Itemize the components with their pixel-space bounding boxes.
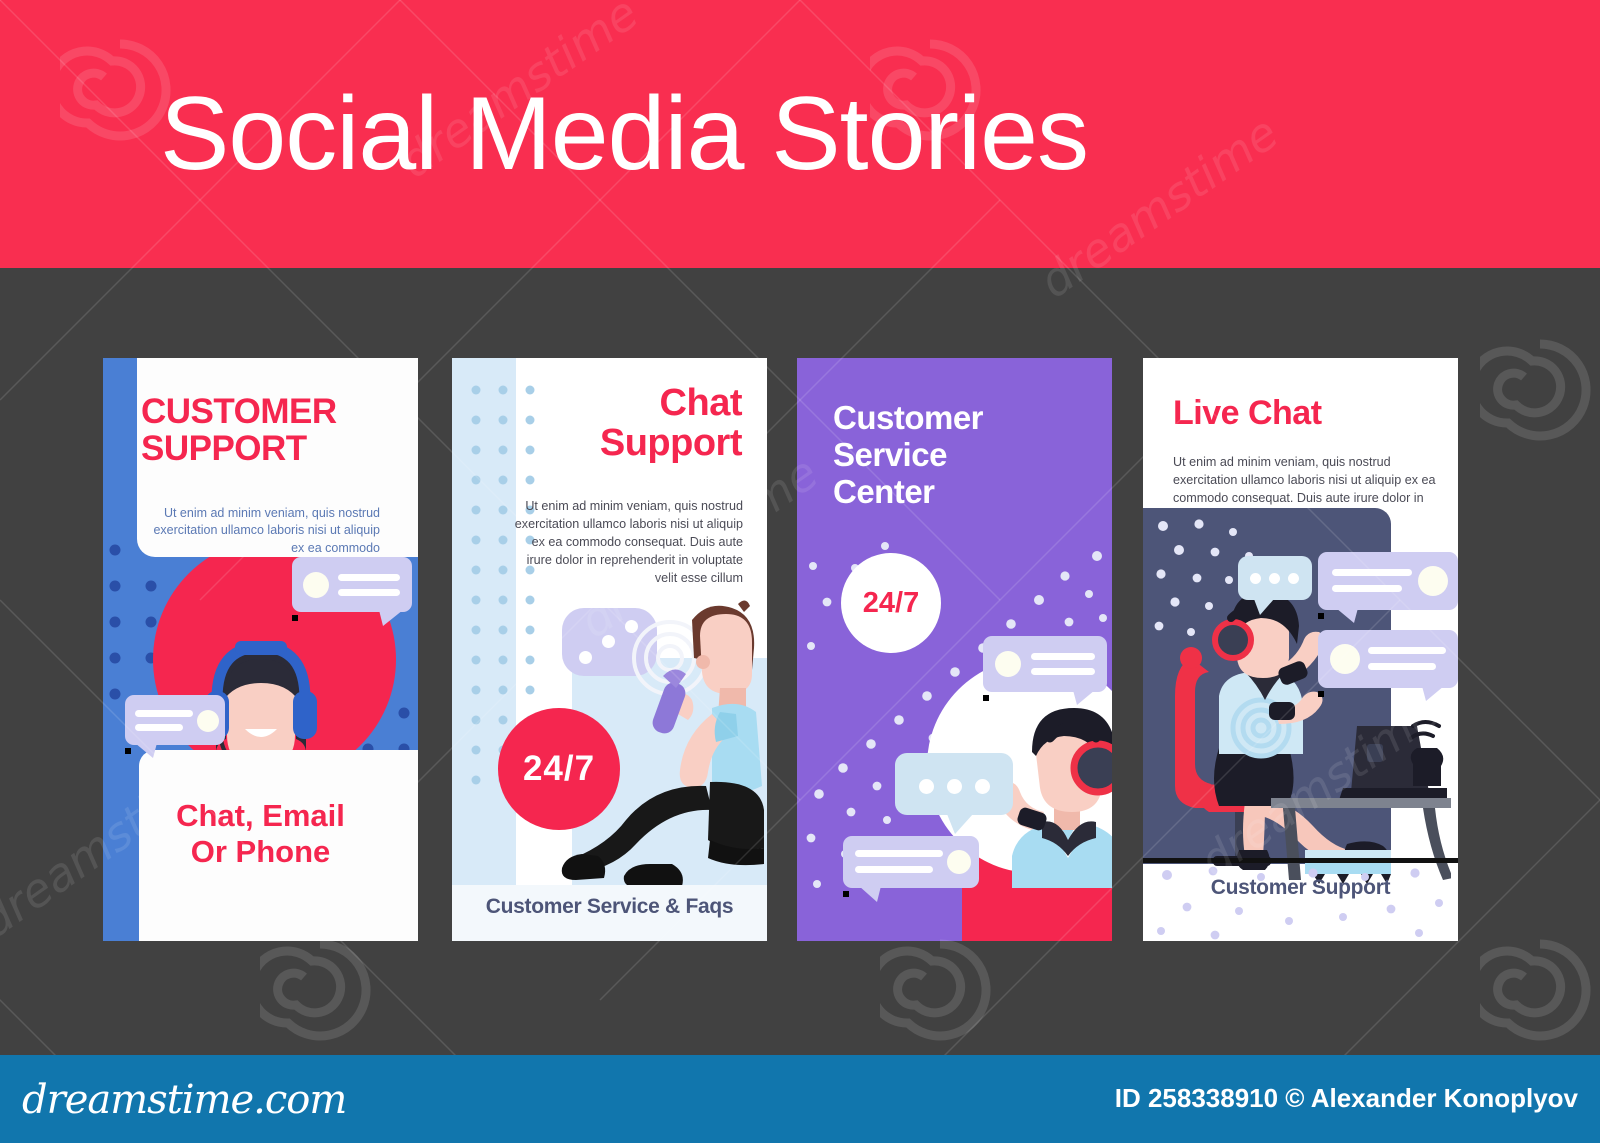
card3-badge-247: 24/7: [841, 553, 941, 653]
spiral-icon: [870, 30, 990, 150]
chat-bubble-typing-dots: [895, 753, 1013, 815]
card2-badge-247: 24/7: [498, 708, 620, 830]
card1-body-text: Ut enim ad minim veniam, quis nostrud ex…: [145, 505, 380, 557]
chat-bubble-right-1: [1318, 552, 1458, 610]
chat-bubble-outgoing: [125, 695, 225, 745]
spiral-icon: [260, 930, 380, 1050]
chat-bubble-right-2: [1318, 630, 1458, 688]
chat-bubble-top-right: [983, 636, 1107, 692]
cards-strip: CUSTOMER SUPPORT Ut enim ad minim veniam…: [0, 268, 1600, 1055]
spiral-icon: [1480, 930, 1600, 1050]
chat-bubble-typing: [1238, 556, 1312, 600]
card1-title: CUSTOMER SUPPORT: [141, 394, 371, 468]
image-credit: ID 258338910 © Alexander Konoplyov: [1115, 1083, 1578, 1114]
chat-bubble-incoming: [292, 557, 412, 612]
card4-footer-text: Customer Support: [1143, 876, 1458, 900]
header-banner: Social Media Stories: [0, 0, 1600, 268]
dreamstime-logo[interactable]: dreamstime.com: [22, 1077, 346, 1123]
poster-canvas: Social Media Stories: [0, 0, 1600, 1143]
spiral-icon: [60, 30, 180, 150]
story-card-chat-support[interactable]: 24/7 Chat Support Ut enim ad minim venia…: [452, 358, 767, 941]
card2-footer-text: Customer Service & Faqs: [452, 895, 767, 919]
story-card-customer-service-center[interactable]: 24/7: [797, 358, 1112, 941]
card3-title: Customer Service Center: [833, 400, 1073, 511]
spiral-icon: [880, 930, 1000, 1050]
story-card-customer-support[interactable]: CUSTOMER SUPPORT Ut enim ad minim veniam…: [103, 358, 418, 941]
story-card-live-chat[interactable]: Live Chat Ut enim ad minim veniam, quis …: [1143, 358, 1458, 941]
footer-bar: dreamstime.com ID 258338910 © Alexander …: [0, 1055, 1600, 1143]
chat-bubble-bottom-left: [843, 836, 979, 888]
spiral-icon: [1480, 330, 1600, 450]
bottom-dot-pattern: [1153, 863, 1453, 941]
card4-title: Live Chat: [1173, 396, 1433, 432]
card2-title: Chat Support: [492, 384, 742, 464]
card4-body-text: Ut enim ad minim veniam, quis nostrud ex…: [1173, 454, 1441, 508]
